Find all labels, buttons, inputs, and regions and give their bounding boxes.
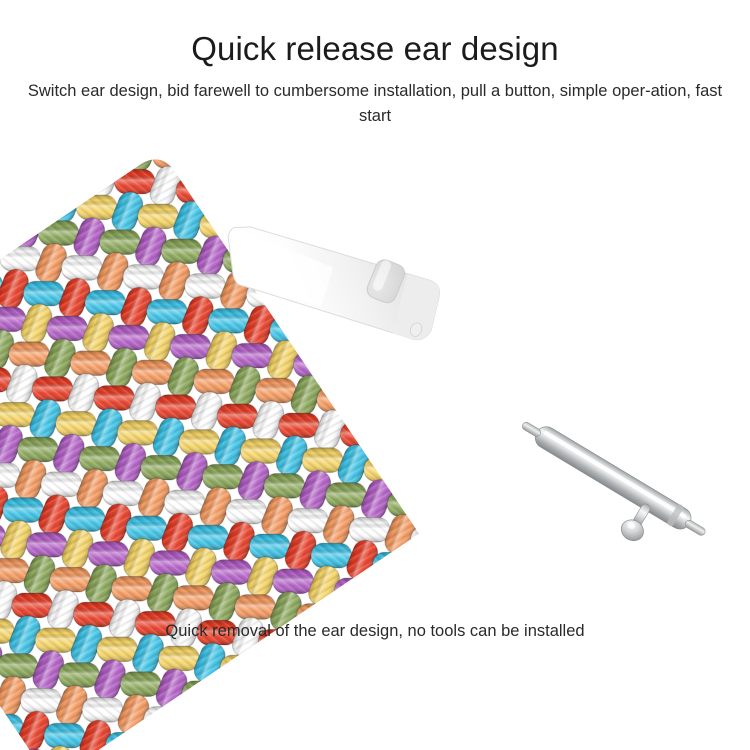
braid-segment [82, 697, 123, 722]
braid-segment [246, 146, 284, 193]
spring-bar-tip-left [521, 421, 542, 438]
photo-caption: Quick removal of the ear design, no tool… [0, 622, 750, 641]
braid-segment [205, 716, 246, 741]
braid-segment [373, 552, 414, 577]
braid-segment [237, 51, 275, 98]
braid-segment [38, 221, 79, 246]
braid-segment [79, 446, 120, 471]
braid-segment [375, 667, 413, 714]
braid-segment [47, 179, 85, 226]
product-marketing-image: Quick release ear design Switch ear desi… [0, 0, 750, 750]
braid-segment [396, 450, 434, 497]
braid-segment [176, 700, 214, 747]
braid-segment [267, 725, 308, 750]
braid-segment [235, 595, 276, 620]
braid-segment [349, 517, 390, 542]
braid-segment [144, 707, 185, 732]
braid-segment [299, 718, 337, 750]
braid-segment [126, 516, 167, 541]
braid-segment [23, 281, 64, 306]
braid-segment [261, 744, 299, 750]
braid-segment [76, 195, 117, 220]
braid-segment [50, 567, 91, 592]
braid-segment [252, 649, 290, 696]
braid-segment [284, 120, 322, 167]
braid-segment [56, 411, 97, 436]
braid-segment [65, 507, 106, 532]
braid-segment [211, 560, 252, 585]
braid-segment [26, 532, 67, 557]
braid-segment [217, 404, 258, 429]
braid-segment [326, 483, 367, 508]
braid-segment [434, 561, 475, 586]
braid-segment [381, 648, 422, 673]
braid-segment [173, 585, 214, 610]
braid-segment [329, 734, 370, 750]
braid-segment [176, 178, 217, 203]
braid-segment [282, 664, 323, 689]
braid-segment [320, 639, 361, 664]
braid-segment [185, 274, 226, 299]
braid-segment [335, 578, 376, 603]
braid-segment [244, 690, 285, 715]
braid-segment [372, 415, 410, 462]
braid-segment [155, 395, 196, 420]
braid-segment [458, 596, 499, 621]
braid-segment [44, 723, 85, 748]
braid-segment [378, 396, 419, 421]
braid-segment [132, 360, 173, 385]
braid-segment [88, 542, 129, 567]
braid-segment [367, 571, 405, 618]
spring-bar-pin [505, 375, 735, 590]
braid-segment [32, 377, 73, 402]
braid-segment [411, 527, 452, 552]
braid-segment [94, 386, 135, 411]
braid-segment [264, 474, 305, 499]
braid-segment [428, 580, 466, 627]
braid-segment [337, 692, 375, 739]
braid-segment [150, 551, 191, 576]
braid-segment [458, 459, 496, 506]
braid-segment [191, 118, 232, 143]
braid-segment [158, 646, 199, 671]
braid-segment [147, 299, 188, 324]
braid-segment [405, 682, 446, 707]
braid-segment [62, 255, 103, 280]
braid-segment [179, 430, 220, 455]
braid-segment [100, 230, 141, 255]
braid-segment [0, 402, 35, 427]
braid-segment [434, 425, 472, 472]
braid-segment [443, 520, 481, 567]
braid-segment [161, 239, 202, 264]
braid-segment [425, 466, 466, 491]
braid-segment [226, 499, 267, 524]
band-weave-rows [0, 30, 554, 750]
braid-segment [340, 422, 381, 447]
braid-segment [9, 342, 50, 367]
braid-segment [311, 543, 352, 568]
braid-segment [70, 351, 111, 376]
braid-segment [152, 144, 193, 169]
braid-segment [138, 204, 179, 229]
braid-segment [220, 655, 261, 680]
braid-segment [0, 733, 15, 750]
braid-segment [232, 343, 273, 368]
braid-segment [194, 369, 235, 394]
braid-segment [455, 345, 496, 370]
braid-segment [214, 674, 252, 721]
braid-segment [343, 673, 384, 698]
braid-segment [9, 205, 47, 252]
braid-segment [249, 534, 290, 559]
braid-segment [305, 699, 346, 724]
braid-segment [396, 587, 437, 612]
braid-segment [161, 102, 199, 149]
braid-segment [120, 672, 161, 697]
braid-segment [214, 153, 255, 178]
braid-segment [103, 481, 144, 506]
braid-segment [414, 641, 452, 688]
braid-segment [288, 508, 329, 533]
braid-segment [229, 92, 270, 117]
braid-segment [47, 316, 88, 341]
braid-segment [41, 472, 82, 497]
braid-segment [170, 334, 211, 359]
braid-segment [18, 437, 59, 462]
braid-segment [411, 390, 449, 437]
braid-segment [466, 555, 504, 602]
braid-segment [59, 663, 100, 688]
braid-segment [21, 688, 62, 713]
braid-segment [164, 490, 205, 515]
braid-segment [85, 290, 126, 315]
braid-segment [208, 172, 246, 219]
braid-segment [464, 440, 505, 465]
braid-segment [241, 439, 282, 464]
braid-segment [238, 709, 276, 750]
braid-segment [314, 658, 352, 705]
braid-segment [12, 593, 53, 618]
braid-segment [255, 378, 296, 403]
braid-segment [0, 246, 41, 271]
braid-segment [208, 309, 249, 334]
braid-segment [167, 741, 208, 750]
braid-segment [279, 413, 320, 438]
braid-segment [199, 735, 237, 750]
spring-bar-assembly [505, 414, 711, 572]
braid-segment [123, 128, 161, 175]
braid-segment [117, 420, 158, 445]
braid-segment [141, 455, 182, 480]
braid-segment [185, 137, 223, 184]
braid-segment [85, 154, 123, 201]
spring-bar-highlight [543, 430, 688, 519]
braid-segment [443, 657, 484, 682]
braid-segment [419, 485, 457, 532]
braid-segment [276, 683, 314, 730]
braid-segment [108, 325, 149, 350]
braid-segment [0, 654, 38, 679]
braid-segment [440, 405, 481, 430]
braid-segment [367, 708, 408, 733]
product-photo [0, 150, 750, 620]
braid-segment [402, 431, 443, 456]
braid-segment [364, 457, 405, 482]
braid-segment [188, 525, 229, 550]
braid-segment [3, 498, 44, 523]
braid-segment [302, 448, 343, 473]
braid-segment [252, 127, 293, 152]
braid-segment [106, 732, 147, 750]
braid-segment [114, 169, 155, 194]
braid-segment [261, 85, 299, 132]
braid-segment [182, 681, 223, 706]
braid-segment [112, 576, 153, 601]
braid-segment [405, 546, 443, 593]
braid-segment [449, 501, 490, 526]
braid-segment [123, 265, 164, 290]
braid-segment [202, 464, 243, 489]
braid-segment [199, 76, 237, 123]
braid-segment [273, 569, 314, 594]
spring-bar-tip-right [684, 519, 707, 537]
braid-segment [223, 111, 261, 158]
braid-segment [138, 726, 176, 750]
braid-segment [417, 371, 458, 396]
braid-segment [387, 492, 428, 517]
braid-segment [449, 364, 487, 411]
